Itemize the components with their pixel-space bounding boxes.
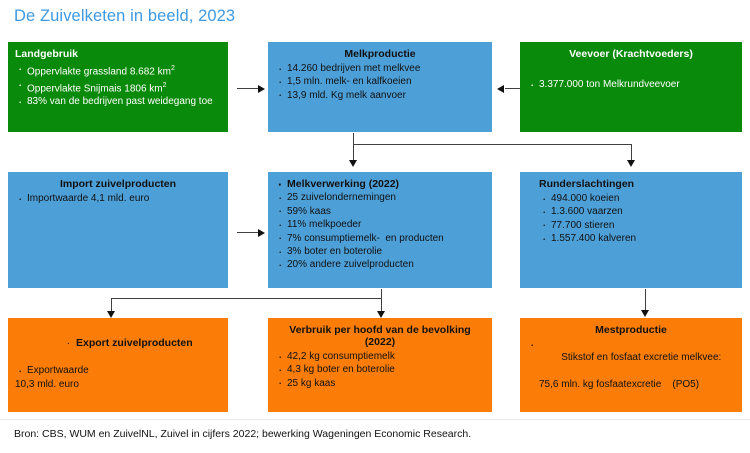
list-item: 14.260 bedrijven met melkvee [275,62,485,75]
box-verbruik-per-hoofd: Verbruik per hoofd van de bevolking (202… [268,318,492,412]
list-item: Oppervlakte grassland 8.682 km2 [15,62,221,79]
box-mestproductie: Mestproductie Stikstof en fosfaat excret… [520,318,742,412]
list-item: 1,5 mln. melk- en kalfkoeien [275,75,485,88]
box-melkproductie-list: 14.260 bedrijven met melkvee 1,5 mln. me… [275,62,485,102]
list-item: 7% consumptiemelk- en producten [275,232,485,245]
box-import-heading: Import zuivelproducten [15,178,221,191]
list-item: 1.557.400 kalveren [539,232,735,245]
list-item: 494.000 koeien [539,192,735,205]
box-mestproductie-heading: Mestproductie [527,324,735,337]
arrow-left-icon [497,85,504,93]
list-item: 83% van de bedrijven past weidegang toe [15,95,221,108]
list-item: 4,3 kg boter en boterolie [275,363,485,376]
box-landgebruik-heading: Landgebruik [15,48,221,61]
connector-import-to-melkverwerking [237,232,259,233]
box-import-list: Importwaarde 4,1 mld. euro [15,192,221,205]
box-veevoer: Veevoer (Krachtvoeders) 3.377.000 ton Me… [520,42,742,132]
list-item: 59% kaas [275,205,485,218]
list-item: 1.3.600 vaarzen [539,205,735,218]
box-verbruik-heading-line2: (2022) [275,336,485,349]
arrow-down-icon [107,311,115,318]
list-item: 25 kg kaas [275,377,485,390]
connector-melkverwerking-stem [381,289,382,298]
box-melkproductie-heading: Melkproductie [275,48,485,61]
box-import-zuivelproducten: Import zuivelproducten Importwaarde 4,1 … [8,172,228,288]
box-runderslachtingen-list: 494.000 koeien 1.3.600 vaarzen 77.700 st… [527,192,735,246]
list-item: 3.377.000 ton Melkrundveevoer [527,78,735,91]
box-export-heading: · Export zuivelproducten [15,324,221,364]
box-export-zuivelproducten: · Export zuivelproducten Exportwaarde 10… [8,318,228,412]
list-item: Stikstof en fosfaat excretie melkvee: 75… [527,338,735,412]
box-landgebruik-list: Oppervlakte grassland 8.682 km2 Oppervla… [15,62,221,109]
arrow-down-icon [349,160,357,167]
list-item: 20% andere zuivelproducten [275,258,485,271]
connector-melkverwerking-bridge [111,298,382,299]
list-item: Importwaarde 4,1 mld. euro [15,192,221,205]
superscript: 2 [163,82,167,89]
connector-melkproductie-bridge [353,144,631,145]
box-veevoer-list: 3.377.000 ton Melkrundveevoer [527,78,735,91]
arrow-down-icon [627,160,635,167]
arrow-right-icon [258,229,265,237]
connector-veevoer-to-melkproductie [505,88,521,89]
list-item: 11% melkpoeder [275,218,485,231]
arrow-right-icon [258,85,265,93]
box-runderslachtingen-heading: Runderslachtingen [527,178,735,191]
box-export-list: · Export zuivelproducten Exportwaarde 10… [15,324,221,391]
list-item-continuation: 10,3 mld. euro [15,378,221,391]
list-item: 13,9 mld. Kg melk aanvoer [275,89,485,102]
page-title: De Zuivelketen in beeld, 2023 [14,7,235,26]
box-runderslachtingen: Runderslachtingen 494.000 koeien 1.3.600… [520,172,742,288]
box-melkverwerking: Melkverwerking (2022) 25 zuivelondernemi… [268,172,492,288]
list-item: Exportwaarde [15,364,221,377]
list-item: Oppervlakte Snijmais 1806 km2 [15,79,221,96]
box-verbruik-list: 42,2 kg consumptiemelk 4,3 kg boter en b… [275,350,485,390]
diagram-canvas: De Zuivelketen in beeld, 2023 Landgebrui… [0,0,750,453]
box-melkverwerking-heading: Melkverwerking (2022) [275,178,485,191]
arrow-down-icon [377,311,385,318]
connector-landgebruik-to-melkproductie [237,88,259,89]
box-melkproductie: Melkproductie 14.260 bedrijven met melkv… [268,42,492,132]
box-melkverwerking-list: Melkverwerking (2022) 25 zuivelondernemi… [275,178,485,272]
list-item: 3% boter en boterolie [275,245,485,258]
footer-divider [0,419,750,420]
source-note: Bron: CBS, WUM en ZuivelNL, Zuivel in ci… [14,428,471,440]
list-item-continuation: 75,6 mln. kg fosfaatexcretie (PO5) [539,378,735,391]
superscript: 2 [171,65,175,72]
box-mestproductie-list: Stikstof en fosfaat excretie melkvee: 75… [527,338,735,412]
box-veevoer-heading: Veevoer (Krachtvoeders) [527,48,735,61]
list-item: 77.700 stieren [539,219,735,232]
list-item: 42,2 kg consumptiemelk [275,350,485,363]
box-landgebruik: Landgebruik Oppervlakte grassland 8.682 … [8,42,228,132]
arrow-down-icon [641,310,649,317]
list-item: 25 zuivelondernemingen [275,191,485,204]
connector-melkproductie-stem [353,133,354,144]
